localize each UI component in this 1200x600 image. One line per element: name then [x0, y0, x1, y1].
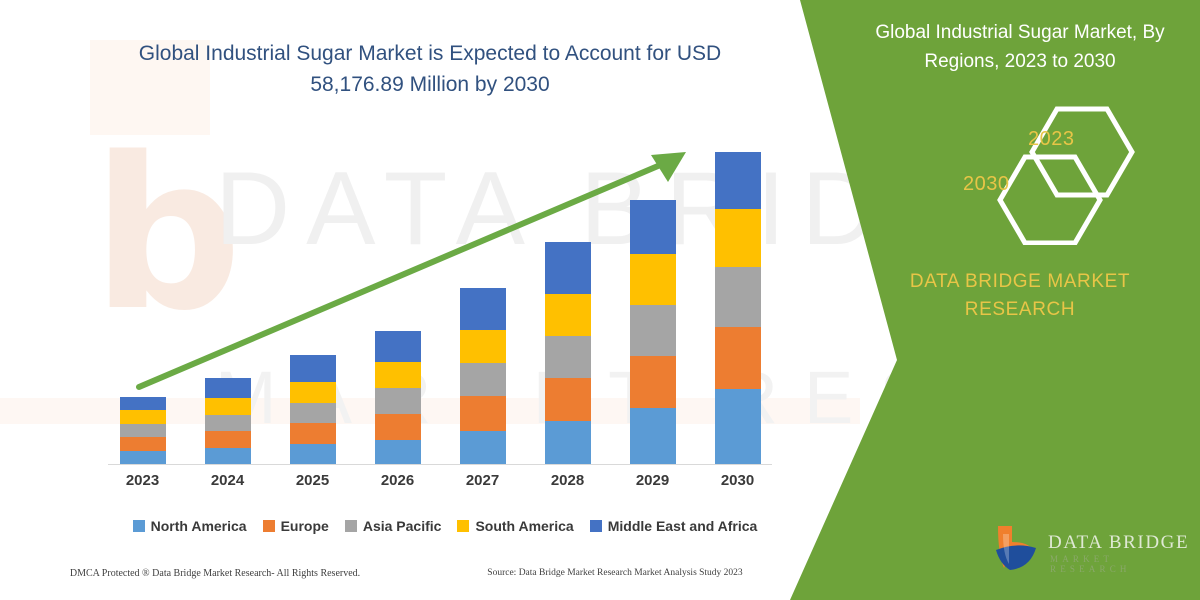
bar-segment	[290, 382, 336, 403]
hex-label-2023: 2023	[1028, 128, 1075, 151]
bar-segment	[120, 451, 166, 464]
footer-dmca-text: DMCA Protected ® Data Bridge Market Rese…	[0, 568, 430, 579]
stacked-bar-2027	[460, 288, 506, 464]
bar-segment	[120, 410, 166, 424]
bar-segment	[545, 378, 591, 421]
legend-item[interactable]: North America	[133, 518, 247, 534]
bar-segment	[545, 421, 591, 464]
x-axis-label-2027: 2027	[440, 472, 525, 489]
bar-group	[100, 140, 780, 464]
bar-segment	[120, 424, 166, 437]
bar-segment	[460, 288, 506, 330]
bar-segment	[375, 362, 421, 388]
legend-swatch-icon	[590, 520, 602, 532]
x-axis-label-2023: 2023	[100, 472, 185, 489]
stacked-bar-2023	[120, 397, 166, 464]
hex-label-2030: 2030	[963, 173, 1010, 196]
bar-slot	[695, 140, 780, 464]
bar-segment	[375, 440, 421, 464]
legend-label: South America	[475, 518, 573, 534]
bar-segment	[290, 355, 336, 382]
bar-segment	[375, 414, 421, 440]
bar-segment	[290, 423, 336, 444]
green-panel-content: Global Industrial Sugar Market, By Regio…	[860, 0, 1200, 600]
chart-pane: Global Industrial Sugar Market is Expect…	[0, 0, 810, 600]
stacked-bar-2029	[630, 200, 676, 464]
legend-swatch-icon	[345, 520, 357, 532]
bar-slot	[525, 140, 610, 464]
chart-legend: North AmericaEuropeAsia PacificSouth Ame…	[100, 518, 790, 534]
legend-swatch-icon	[133, 520, 145, 532]
bar-slot	[440, 140, 525, 464]
bar-slot	[100, 140, 185, 464]
x-axis-label-2026: 2026	[355, 472, 440, 489]
bar-slot	[610, 140, 695, 464]
bar-segment	[205, 415, 251, 431]
bar-segment	[290, 403, 336, 423]
legend-swatch-icon	[263, 520, 275, 532]
legend-item[interactable]: Europe	[263, 518, 329, 534]
footer-source-text: Source: Data Bridge Market Research Mark…	[430, 568, 800, 579]
x-axis-labels: 20232024202520262027202820292030	[100, 472, 780, 489]
bar-segment	[120, 397, 166, 410]
x-axis-label-2029: 2029	[610, 472, 695, 489]
bar-segment	[630, 254, 676, 305]
bar-segment	[460, 431, 506, 464]
x-axis-line	[108, 464, 772, 465]
bar-segment	[205, 448, 251, 464]
bar-segment	[715, 152, 761, 209]
stacked-bar-2026	[375, 331, 421, 464]
bar-slot	[270, 140, 355, 464]
bar-segment	[630, 408, 676, 464]
data-bridge-logo-icon	[990, 524, 1046, 574]
hexagon-outline-icon	[905, 95, 1165, 245]
bar-segment	[120, 437, 166, 451]
bar-slot	[355, 140, 440, 464]
bar-segment	[630, 305, 676, 356]
panel-title: Global Industrial Sugar Market, By Regio…	[855, 18, 1185, 76]
bar-segment	[545, 294, 591, 336]
data-bridge-logo: DATA BRIDGE MARKET RESEARCH	[990, 522, 1190, 578]
bar-segment	[375, 388, 421, 414]
hexagon-badges: 2023 2030	[905, 95, 1165, 245]
bar-segment	[205, 398, 251, 415]
stacked-bar-2024	[205, 378, 251, 464]
legend-item[interactable]: South America	[457, 518, 573, 534]
stacked-bar-2025	[290, 355, 336, 464]
logo-subtext: MARKET RESEARCH	[1050, 554, 1190, 574]
bar-segment	[460, 330, 506, 363]
x-axis-label-2028: 2028	[525, 472, 610, 489]
bar-segment	[205, 378, 251, 398]
legend-item[interactable]: Asia Pacific	[345, 518, 442, 534]
legend-label: Europe	[281, 518, 329, 534]
bar-segment	[715, 327, 761, 389]
chart-title: Global Industrial Sugar Market is Expect…	[120, 38, 740, 100]
bar-segment	[630, 200, 676, 254]
bar-segment	[715, 267, 761, 327]
brand-name: DATA BRIDGE MARKET RESEARCH	[870, 268, 1170, 324]
bar-segment	[545, 336, 591, 378]
plot-area	[100, 140, 780, 465]
bar-segment	[630, 356, 676, 408]
legend-label: North America	[151, 518, 247, 534]
x-axis-label-2025: 2025	[270, 472, 355, 489]
bar-segment	[460, 363, 506, 396]
stacked-bar-2030	[715, 152, 761, 464]
bar-segment	[375, 331, 421, 362]
legend-label: Asia Pacific	[363, 518, 442, 534]
legend-label: Middle East and Africa	[608, 518, 758, 534]
logo-wordmark: DATA BRIDGE	[1048, 532, 1189, 554]
bar-segment	[205, 431, 251, 448]
legend-item[interactable]: Middle East and Africa	[590, 518, 758, 534]
bar-segment	[715, 389, 761, 464]
bar-segment	[460, 396, 506, 431]
infographic-page: b DATA BRIDGE MARKET RESEARCH Global Ind…	[0, 0, 1200, 600]
x-axis-label-2030: 2030	[695, 472, 780, 489]
bar-segment	[545, 242, 591, 294]
bar-slot	[185, 140, 270, 464]
legend-swatch-icon	[457, 520, 469, 532]
stacked-bar-2028	[545, 242, 591, 464]
x-axis-label-2024: 2024	[185, 472, 270, 489]
bar-segment	[715, 209, 761, 267]
footer: DMCA Protected ® Data Bridge Market Rese…	[0, 568, 800, 579]
bar-segment	[290, 444, 336, 464]
